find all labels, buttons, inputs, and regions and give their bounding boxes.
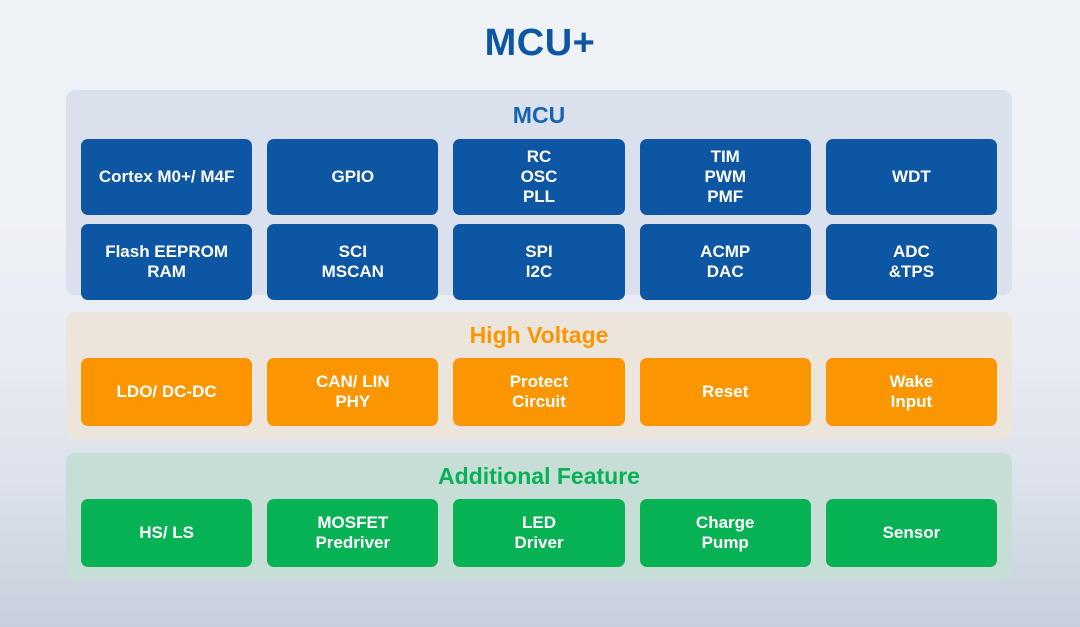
block-wake-input[interactable]: Wake Input [826, 358, 997, 426]
block-line: ADC [893, 242, 930, 262]
block-line: SPI [525, 242, 552, 262]
page-title: MCU+ [0, 22, 1080, 65]
block-gpio[interactable]: GPIO [267, 139, 438, 215]
block-line: LDO/ DC-DC [117, 382, 217, 402]
section-mcu: MCU Cortex M0+/ M4F GPIO RC OSC PLL TIM … [66, 90, 1012, 295]
block-line: Input [891, 392, 933, 412]
block-line: RC [527, 147, 552, 167]
section-additional-feature: Additional Feature HS/ LS MOSFET Predriv… [66, 453, 1012, 580]
block-line: RAM [147, 262, 186, 282]
block-line: Pump [702, 533, 749, 553]
block-adc-tps[interactable]: ADC &TPS [826, 224, 997, 300]
block-charge-pump[interactable]: Charge Pump [640, 499, 811, 567]
block-flash-eeprom-ram[interactable]: Flash EEPROM RAM [81, 224, 252, 300]
block-line: PLL [523, 187, 555, 207]
block-sensor[interactable]: Sensor [826, 499, 997, 567]
block-spi-i2c[interactable]: SPI I2C [453, 224, 624, 300]
block-mosfet-predriver[interactable]: MOSFET Predriver [267, 499, 438, 567]
block-tim-pwm-pmf[interactable]: TIM PWM PMF [640, 139, 811, 215]
block-rc-osc-pll[interactable]: RC OSC PLL [453, 139, 624, 215]
block-ldo-dcdc[interactable]: LDO/ DC-DC [81, 358, 252, 426]
block-line: Predriver [315, 533, 390, 553]
block-line: WDT [892, 167, 931, 187]
block-line: HS/ LS [139, 523, 194, 543]
block-line: MOSFET [317, 513, 388, 533]
block-line: DAC [707, 262, 744, 282]
block-hs-ls[interactable]: HS/ LS [81, 499, 252, 567]
block-cortex[interactable]: Cortex M0+/ M4F [81, 139, 252, 215]
section-high-voltage: High Voltage LDO/ DC-DC CAN/ LIN PHY Pro… [66, 312, 1012, 439]
block-line: GPIO [332, 167, 375, 187]
block-row: HS/ LS MOSFET Predriver LED Driver Charg… [66, 499, 1012, 567]
section-heading-high-voltage: High Voltage [66, 312, 1012, 358]
block-line: Reset [702, 382, 748, 402]
block-line: Circuit [512, 392, 566, 412]
block-line: TIM [711, 147, 740, 167]
block-line: MSCAN [322, 262, 384, 282]
block-can-lin-phy[interactable]: CAN/ LIN PHY [267, 358, 438, 426]
block-sci-mscan[interactable]: SCI MSCAN [267, 224, 438, 300]
block-line: PWM [704, 167, 746, 187]
block-line: Driver [514, 533, 563, 553]
block-line: PHY [335, 392, 370, 412]
block-line: Cortex M0+/ M4F [99, 167, 235, 187]
block-line: SCI [339, 242, 367, 262]
block-line: &TPS [889, 262, 934, 282]
diagram-canvas: MCU+ MCU Cortex M0+/ M4F GPIO RC OSC PLL… [0, 0, 1080, 627]
block-row: Cortex M0+/ M4F GPIO RC OSC PLL TIM PWM … [66, 139, 1012, 215]
block-row: LDO/ DC-DC CAN/ LIN PHY Protect Circuit … [66, 358, 1012, 426]
block-line: I2C [526, 262, 552, 282]
block-row: Flash EEPROM RAM SCI MSCAN SPI I2C ACMP … [66, 224, 1012, 300]
block-line: Wake [890, 372, 934, 392]
block-line: LED [522, 513, 556, 533]
block-acmp-dac[interactable]: ACMP DAC [640, 224, 811, 300]
block-line: Flash EEPROM [105, 242, 228, 262]
block-wdt[interactable]: WDT [826, 139, 997, 215]
block-line: ACMP [700, 242, 750, 262]
section-heading-mcu: MCU [66, 90, 1012, 139]
block-line: OSC [521, 167, 558, 187]
block-led-driver[interactable]: LED Driver [453, 499, 624, 567]
block-line: Sensor [883, 523, 941, 543]
block-line: PMF [707, 187, 743, 207]
block-reset[interactable]: Reset [640, 358, 811, 426]
block-line: CAN/ LIN [316, 372, 390, 392]
block-line: Protect [510, 372, 569, 392]
block-line: Charge [696, 513, 755, 533]
block-protect-circuit[interactable]: Protect Circuit [453, 358, 624, 426]
section-heading-additional-feature: Additional Feature [66, 453, 1012, 499]
